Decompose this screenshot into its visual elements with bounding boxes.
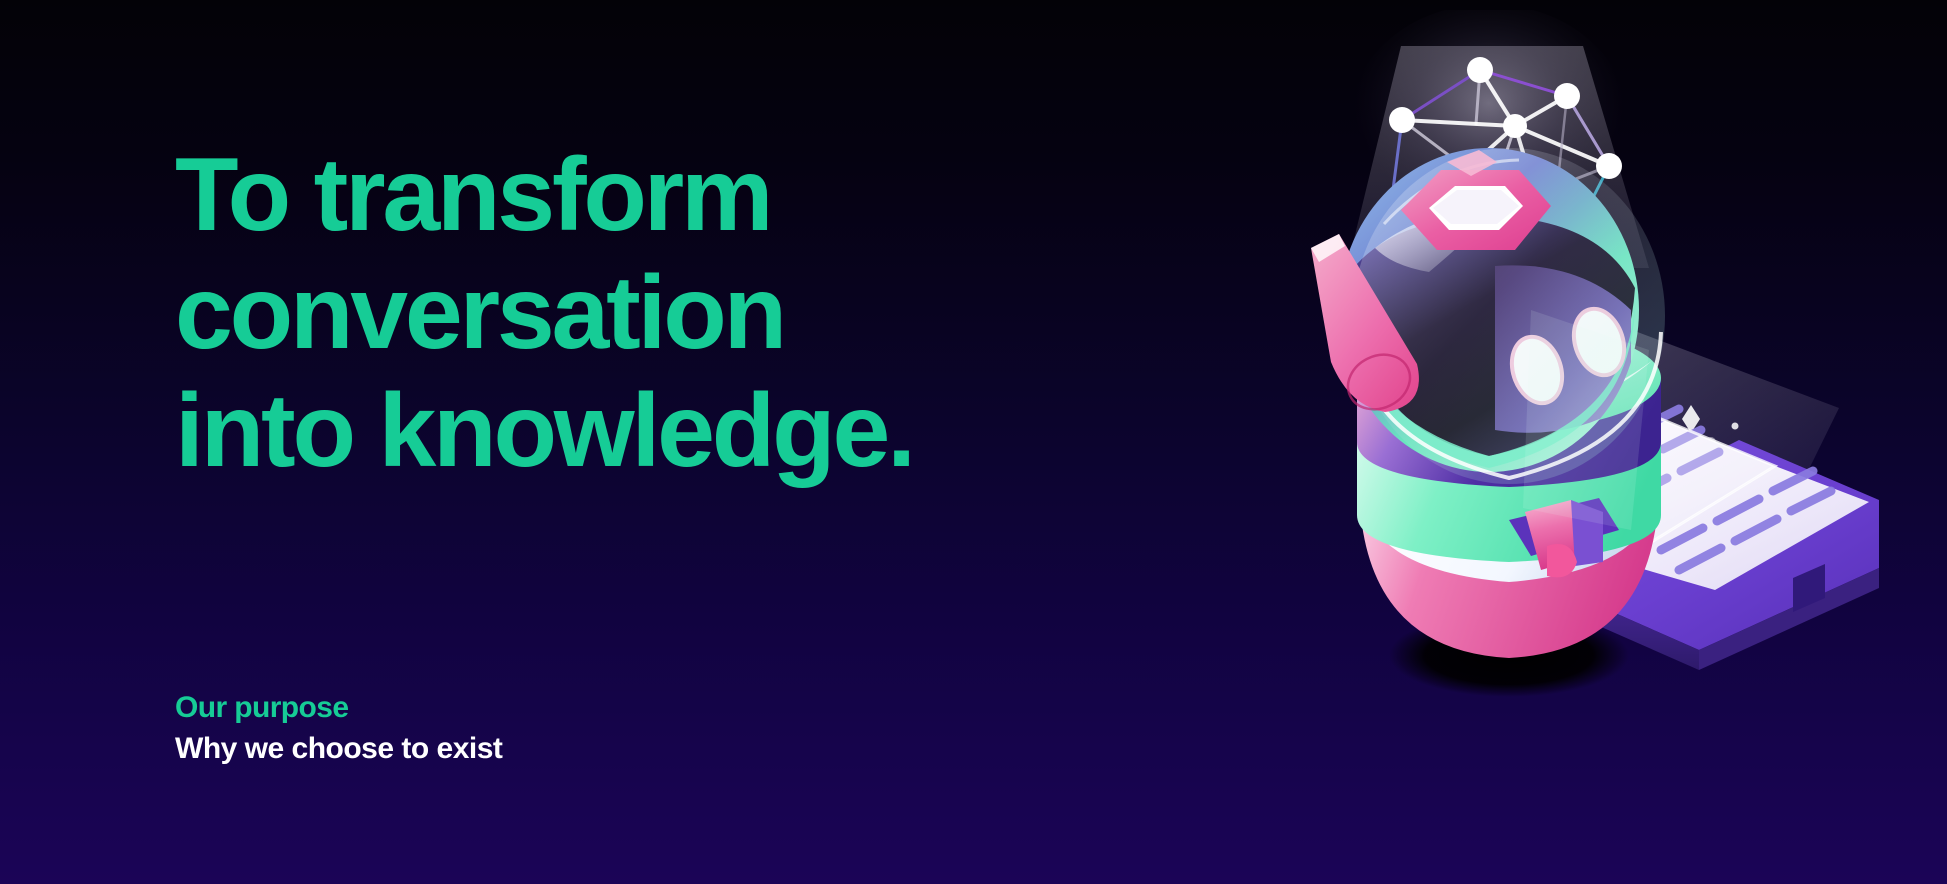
headline-line-2: conversation bbox=[175, 254, 913, 372]
page-title: To transform conversation into knowledge… bbox=[175, 136, 913, 490]
hero-banner: To transform conversation into knowledge… bbox=[0, 0, 1947, 884]
robot-illustration bbox=[1179, 10, 1899, 770]
eyebrow-label: Our purpose bbox=[175, 688, 502, 728]
hero-copy: To transform conversation into knowledge… bbox=[175, 0, 1135, 884]
headline-line-3: into knowledge. bbox=[175, 372, 913, 490]
subtitle-text: Why we choose to exist bbox=[175, 728, 502, 770]
purpose-group: Our purpose Why we choose to exist bbox=[175, 688, 502, 770]
headline-line-1: To transform bbox=[175, 136, 913, 254]
